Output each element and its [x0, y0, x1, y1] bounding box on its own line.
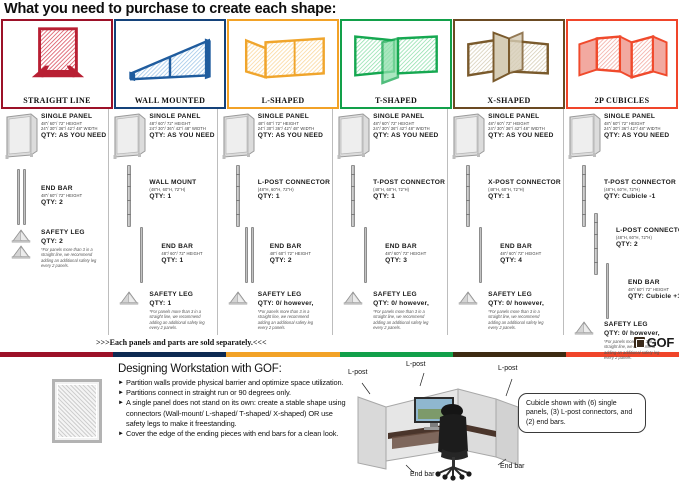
part-qty: QTY: AS YOU NEED [258, 131, 330, 140]
part-connector: WALL MOUNT (48"H, 60"H, 72"H) QTY: 1 [109, 165, 216, 227]
part-connector: L-POST CONNECTOR (48"H, 60"H, 72"H) QTY:… [218, 165, 332, 227]
part-name: SINGLE PANEL [373, 113, 445, 121]
shape-art-wall-icon [116, 23, 224, 85]
part-qty: QTY: Cubicle +1 [628, 292, 679, 301]
part-qty: QTY: 1 [488, 192, 561, 201]
shape-card-label: WALL MOUNTED [116, 96, 224, 105]
end-bar-icon [17, 169, 20, 225]
shape-card-label: X-SHAPED [455, 96, 563, 105]
part-name: SAFETY LEG [258, 291, 330, 299]
gof-logo-mark-icon [634, 337, 645, 348]
part-qty: QTY: Cubicle -1 [604, 192, 679, 201]
end-bar-icon [364, 227, 367, 283]
part-single-panel: SINGLE PANEL 48"/ 60"/ 72" HEIGHT 24"/ 3… [564, 113, 679, 159]
single-panel-icon [111, 113, 147, 159]
single-panel-icon [566, 113, 602, 159]
bullet-text: Cover the edge of the ending pieces with… [126, 429, 348, 439]
part-qty: QTY: AS YOU NEED [149, 131, 214, 140]
part-qty: QTY: 1 [149, 299, 214, 308]
bullet-text: Partition walls provide physical barrier… [126, 378, 348, 388]
part-safety-leg: SAFETY LEG QTY: 0/ however, *For panels … [448, 291, 563, 331]
designing-workstation-section: Designing Workstation with GOF: ► Partit… [0, 357, 679, 483]
designing-bullet: ► A single panel does not stand on its o… [118, 398, 348, 429]
part-single-panel: SINGLE PANEL 48"/ 60"/ 72" HEIGHT 24"/ 3… [333, 113, 447, 159]
safety-leg-icon [458, 291, 478, 305]
designing-title: Designing Workstation with GOF: [118, 363, 348, 375]
part-name: SINGLE PANEL [488, 113, 561, 121]
part-single-panel: SINGLE PANEL 48"/ 60"/ 72" HEIGHT 24"/ 3… [109, 113, 216, 159]
post-connector-icon [127, 165, 131, 227]
part-name: T-POST CONNECTOR [373, 179, 445, 187]
part-end-bar: END BAR 48"/ 60"/ 72" HEIGHT QTY: 2 [1, 169, 108, 225]
safety-leg-icon [119, 291, 139, 305]
sold-separately-note: >>>Each panels and parts are sold separa… [96, 338, 267, 347]
shape-art-straight-icon [3, 23, 111, 85]
designing-bullet: ► Cover the edge of the ending pieces wi… [118, 429, 348, 439]
part-name: END BAR [385, 243, 445, 251]
part-qty: QTY: 0/ however, [373, 299, 445, 308]
cubicle-callout: Cubicle shown with (6) single panels, (3… [518, 393, 646, 433]
safety-leg-icon [574, 321, 594, 335]
part-qty: QTY: 0/ however, [488, 299, 561, 308]
safety-leg-icon [11, 245, 31, 259]
shape-card-label: 2P CUBICLES [568, 96, 676, 105]
shape-card-row: STRAIGHT LINE WALL MOUNTED L-SHAPED T-SH… [0, 19, 679, 109]
part-qty: QTY: 3 [385, 256, 445, 265]
shape-card-label: STRAIGHT LINE [3, 96, 111, 105]
label-endbar-left: End bar [410, 471, 435, 478]
safety-leg-icon [343, 291, 363, 305]
shape-card-label: L-SHAPED [229, 96, 337, 105]
shape-card-label: T-SHAPED [342, 96, 450, 105]
shape-art-tshape-icon [342, 23, 450, 85]
part-name: T-POST CONNECTOR [604, 179, 679, 187]
page-title: What you need to purchase to create each… [0, 0, 679, 19]
part-name: SAFETY LEG [488, 291, 561, 299]
part-qty: QTY: 1 [373, 192, 445, 201]
cubicle-illustration: L-post L-post L-post End bar End bar [340, 361, 540, 481]
part-name: END BAR [161, 243, 214, 251]
shape-art-xshape-icon [455, 23, 563, 85]
part-end-bar: END BAR 48"/ 60"/ 72" HEIGHT QTY: 2 [230, 227, 332, 283]
end-bar-icon [245, 227, 248, 283]
bullet-text: Partitions connect in straight run or 90… [126, 388, 348, 398]
single-panel-icon [335, 113, 371, 159]
part-name: WALL MOUNT [149, 179, 214, 187]
part-qty: QTY: AS YOU NEED [604, 131, 679, 140]
bullet-triangle-icon: ► [118, 398, 126, 429]
parts-column-6: SINGLE PANEL 48"/ 60"/ 72" HEIGHT 24"/ 3… [564, 109, 679, 335]
part-name: SINGLE PANEL [258, 113, 330, 121]
part-end-bar: END BAR 48"/ 60"/ 72" HEIGHT QTY: 4 [460, 227, 563, 283]
parts-column-row: SINGLE PANEL 48"/ 60"/ 72" HEIGHT 24"/ 3… [0, 109, 679, 335]
parts-column-2: SINGLE PANEL 48"/ 60"/ 72" HEIGHT 24"/ 3… [109, 109, 217, 335]
part-safety-leg: SAFETY LEG QTY: 0/ however, *For panels … [218, 291, 332, 331]
part-qty: QTY: AS YOU NEED [373, 131, 445, 140]
parts-column-4: SINGLE PANEL 48"/ 60"/ 72" HEIGHT 24"/ 3… [333, 109, 448, 335]
sold-separately-row: >>>Each panels and parts are sold separa… [0, 335, 679, 352]
safety-note: *For panels more than 3 in a straight li… [373, 309, 437, 331]
post-connector-icon [466, 165, 470, 227]
part-name: END BAR [628, 279, 679, 287]
end-bar-icon [140, 227, 143, 283]
part-safety-leg: SAFETY LEG QTY: 0/ however, *For panels … [333, 291, 447, 331]
bullet-triangle-icon: ► [118, 429, 126, 439]
end-bar-icon [479, 227, 482, 283]
part-safety-leg: SAFETY LEG QTY: 1 *For panels more than … [109, 291, 216, 331]
label-endbar-right: End bar [500, 463, 525, 470]
part-qty: QTY: 2 [41, 237, 106, 246]
part-name: X-POST CONNECTOR [488, 179, 561, 187]
part-name: END BAR [41, 185, 106, 193]
label-lpost-right: L-post [498, 365, 517, 372]
gof-logo: GOF [634, 335, 674, 350]
part-name: END BAR [500, 243, 561, 251]
part-qty: QTY: 1 [161, 256, 214, 265]
designing-bullet: ► Partition walls provide physical barri… [118, 378, 348, 388]
part-name: SINGLE PANEL [41, 113, 106, 121]
shape-art-lshape-icon [229, 23, 337, 85]
part-qty: QTY: AS YOU NEED [488, 131, 561, 140]
part-name: SAFETY LEG [373, 291, 445, 299]
end-bar-icon [606, 263, 609, 319]
shape-card-lshape[interactable]: L-SHAPED [227, 19, 339, 109]
safety-note: *For panels more than 3 in a straight li… [258, 309, 322, 331]
part-end-bar: END BAR 48"/ 60"/ 72" HEIGHT QTY: Cubicl… [588, 263, 679, 319]
part-name: SAFETY LEG [149, 291, 214, 299]
designing-text-block: Designing Workstation with GOF: ► Partit… [118, 363, 348, 439]
label-lpost-left: L-post [348, 369, 367, 376]
post-connector-icon [351, 165, 355, 227]
parts-column-3: SINGLE PANEL 48"/ 60"/ 72" HEIGHT 24"/ 3… [218, 109, 333, 335]
single-panel-icon [220, 113, 256, 159]
label-lpost-center: L-post [406, 361, 425, 368]
part-qty: QTY: 4 [500, 256, 561, 265]
shape-card-straight[interactable]: STRAIGHT LINE [1, 19, 113, 109]
parts-column-1: SINGLE PANEL 48"/ 60"/ 72" HEIGHT 24"/ 3… [1, 109, 109, 335]
bullet-triangle-icon: ► [118, 388, 126, 398]
part-qty: QTY: 2 [41, 198, 106, 207]
sample-panel-image [52, 379, 102, 443]
safety-note: *For panels more than 3 in a straight li… [488, 309, 552, 331]
part-qty: QTY: 1 [258, 192, 330, 201]
part-name: L-POST CONNECTOR [258, 179, 330, 187]
part-name: L-POST CONNECTOR [616, 227, 679, 235]
part-end-bar: END BAR 48"/ 60"/ 72" HEIGHT QTY: 3 [345, 227, 447, 283]
shape-card-wall[interactable]: WALL MOUNTED [114, 19, 226, 109]
part-name: SINGLE PANEL [604, 113, 679, 121]
shape-card-tshape[interactable]: T-SHAPED [340, 19, 452, 109]
parts-column-5: SINGLE PANEL 48"/ 60"/ 72" HEIGHT 24"/ 3… [448, 109, 564, 335]
post-connector-icon [236, 165, 240, 227]
part-qty: QTY: 2 [270, 256, 330, 265]
part-qty: QTY: 1 [149, 192, 214, 201]
safety-note: *For panels more than 3 in a straight li… [149, 309, 213, 331]
part-connector: X-POST CONNECTOR (48"H, 60"H, 72"H) QTY:… [448, 165, 563, 227]
shape-card-xshape[interactable]: X-SHAPED [453, 19, 565, 109]
gof-logo-text: GOF [647, 335, 674, 350]
part-connector: T-POST CONNECTOR (48"H, 60"H, 72"H) QTY:… [333, 165, 447, 227]
safety-leg-icon [11, 229, 31, 243]
safety-leg-icon [228, 291, 248, 305]
part-qty: QTY: AS YOU NEED [41, 131, 106, 140]
part-safety-leg: SAFETY LEG QTY: 2 *For panels more than … [1, 229, 108, 269]
part-qty: QTY: 2 [616, 240, 679, 249]
sample-panel-fabric [57, 384, 97, 438]
part-name: SINGLE PANEL [149, 113, 214, 121]
purchase-guide-page: What you need to purchase to create each… [0, 0, 679, 497]
safety-note: *For panels more than 3 in a straight li… [41, 247, 105, 269]
end-bar-icon [251, 227, 254, 283]
end-bar-icon [23, 169, 26, 225]
part-single-panel: SINGLE PANEL 48"/ 60"/ 72" HEIGHT 24"/ 3… [448, 113, 563, 159]
part-end-bar: END BAR 48"/ 60"/ 72" HEIGHT QTY: 1 [121, 227, 216, 283]
part-single-panel: SINGLE PANEL 48"/ 60"/ 72" HEIGHT 24"/ 3… [218, 113, 332, 159]
shape-card-cubicles[interactable]: 2P CUBICLES [566, 19, 678, 109]
part-name: SAFETY LEG [604, 321, 679, 329]
part-qty: QTY: 0/ however, [258, 299, 330, 308]
shape-art-cubicles-icon [568, 23, 676, 85]
designing-bullet-list: ► Partition walls provide physical barri… [118, 378, 348, 439]
bullet-triangle-icon: ► [118, 378, 126, 388]
part-single-panel: SINGLE PANEL 48"/ 60"/ 72" HEIGHT 24"/ 3… [1, 113, 108, 159]
single-panel-icon [450, 113, 486, 159]
bullet-text: A single panel does not stand on its own… [126, 398, 348, 429]
single-panel-icon [3, 113, 39, 159]
part-name: END BAR [270, 243, 330, 251]
part-name: SAFETY LEG [41, 229, 106, 237]
designing-bullet: ► Partitions connect in straight run or … [118, 388, 348, 398]
